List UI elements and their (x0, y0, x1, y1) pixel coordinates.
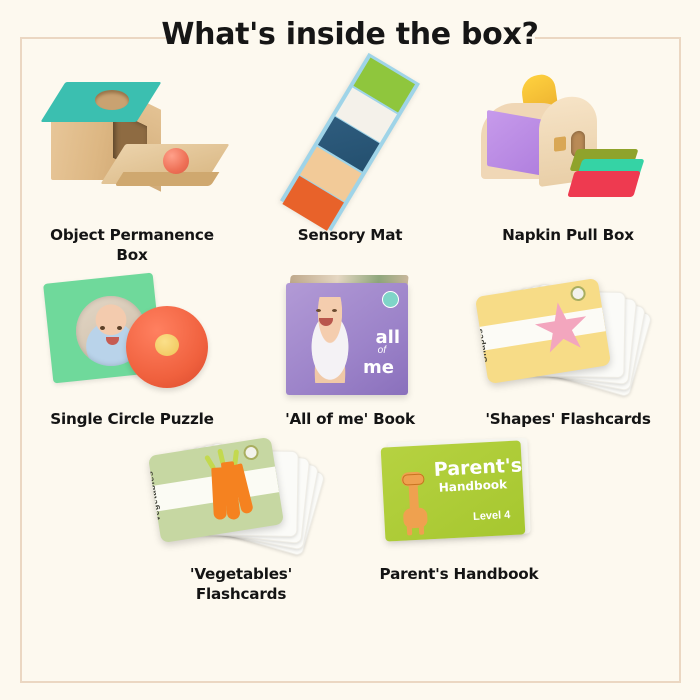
item-parents-handbook: Parent's Handbook Level 4 Parent's Handb… (350, 429, 568, 605)
board-book-graphic: all of me (284, 273, 416, 399)
item-label: 'All of me' Book (255, 410, 445, 430)
page-title: What's inside the box? (0, 17, 700, 52)
sensory-mat-graphic (280, 53, 420, 231)
item-napkin-pull-box: Napkin Pull Box (459, 62, 677, 266)
item-all-of-me-book: all of me 'All of me' Book (241, 266, 459, 430)
box-knob (554, 136, 566, 152)
napkin-red (567, 171, 640, 197)
card-white-stripe (480, 307, 606, 350)
single-circle-puzzle-illustration (32, 266, 232, 406)
items-row-1: Object Permanence Box Sensory Mat (22, 62, 678, 266)
item-label: Napkin Pull Box (473, 226, 663, 246)
baby-eye-left (100, 326, 105, 330)
item-label: Sensory Mat (255, 226, 445, 246)
book-logo-badge (382, 291, 399, 308)
all-of-me-book-illustration: all of me (250, 266, 450, 406)
item-label: 'Shapes' Flashcards (473, 410, 663, 430)
puzzle-disc (126, 306, 208, 388)
puzzle-knob (155, 334, 179, 356)
giraffe-glasses (402, 474, 425, 486)
frame-right-line (679, 37, 681, 683)
wooden-box-graphic (43, 76, 221, 208)
product-contents-poster: What's inside the box? Ob (0, 0, 700, 700)
parents-handbook-illustration: Parent's Handbook Level 4 (359, 429, 559, 561)
card-ring-grommet (569, 284, 586, 301)
box-tray-lip (115, 172, 220, 186)
item-label: Object Permanence Box (37, 226, 227, 266)
box-hole (95, 90, 129, 110)
item-shapes-flashcards: Shapes 'Shapes' Flashcards (459, 266, 677, 430)
item-single-circle-puzzle: Single Circle Puzzle (23, 266, 241, 430)
object-permanence-box-illustration (32, 62, 232, 222)
baby-mouth (106, 337, 119, 345)
wooden-ball (163, 148, 189, 174)
item-object-permanence-box: Object Permanence Box (23, 62, 241, 266)
handbook-subtitle: Handbook (438, 477, 507, 495)
napkin-pull-box-illustration (468, 62, 668, 222)
puzzle-graphic (44, 272, 220, 400)
items-row-3: Vegetables 'Vegetables' Flashcards (22, 429, 678, 605)
giraffe-leg-left (407, 525, 413, 535)
shapes-flashcards-illustration: Shapes (468, 266, 668, 406)
vegetables-flashcards-illustration: Vegetables (141, 429, 341, 561)
item-label: 'Vegetables' Flashcards (146, 565, 336, 605)
handbook-cover: Parent's Handbook Level 4 (381, 441, 526, 542)
items-grid: Object Permanence Box Sensory Mat (22, 62, 678, 605)
baby-eye-right (117, 326, 122, 330)
napkin-box-graphic (475, 75, 661, 209)
deck-top-card: Shapes (475, 277, 611, 383)
items-row-2: Single Circle Puzzle all of me (22, 266, 678, 430)
book-baby-eyes (314, 309, 344, 313)
handbook-title: Parent's (433, 455, 522, 482)
item-label: Single Circle Puzzle (37, 410, 227, 430)
book-title-line3: me (363, 357, 394, 378)
handbook-graphic: Parent's Handbook Level 4 (375, 436, 543, 554)
giraffe-leg-right (419, 525, 425, 535)
vegetables-deck-graphic: Vegetables (146, 432, 336, 558)
item-sensory-mat: Sensory Mat (241, 62, 459, 266)
sensory-mat-illustration (250, 62, 450, 222)
purple-panel (487, 110, 545, 176)
book-cover: all of me (286, 283, 408, 395)
frame-bottom-line (20, 681, 681, 683)
handbook-level: Level 4 (473, 509, 511, 523)
giraffe-icon (396, 471, 433, 535)
item-vegetables-flashcards: Vegetables 'Vegetables' Flashcards (132, 429, 350, 605)
shapes-deck-graphic: Shapes (473, 273, 663, 399)
card-ring-grommet (242, 444, 259, 461)
item-label: Parent's Handbook (364, 565, 554, 585)
book-title-line2: of (378, 345, 386, 356)
